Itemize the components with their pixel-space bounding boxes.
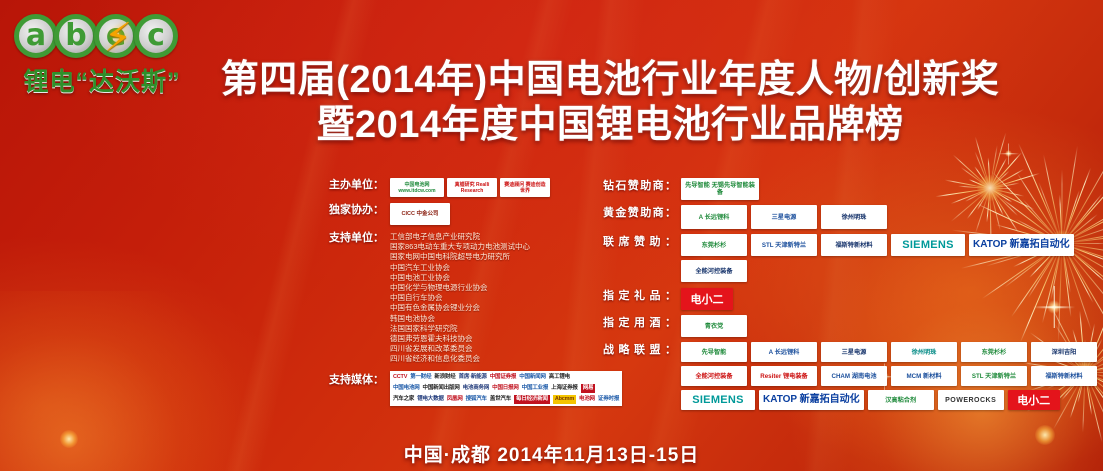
media-logo: 首席·新能源 <box>459 373 487 382</box>
support-organization-item: 四川省经济和信息化委员会 <box>390 354 530 364</box>
sponsor-logo-text: 中国电池网 www.itdcw.com <box>393 182 441 194</box>
event-location-date: 中国·成都 2014年11月13日-15日 <box>0 440 1103 467</box>
media-logo: Abcmm <box>553 395 576 404</box>
media-logo: 中国电池网 <box>393 384 420 393</box>
media-logo: 上海证券报 <box>551 384 578 393</box>
support-organization-item: 工信部电子信息产业研究院 <box>390 232 530 242</box>
joint-sponsor-row: 联席赞助： 东莞杉杉STL 天津新特兰福斯特新材料SIEMENSKATOP 新嘉… <box>603 234 1103 282</box>
media-logo: 锂电大数据 <box>417 395 444 404</box>
exclusive-logos: CICC 中金公司 <box>390 203 450 225</box>
left-sponsor-column: 主办单位： 中国电池网 www.itdcw.com真锂研究 Realli Res… <box>318 178 588 406</box>
sponsor-logo-chip: 徐州明珠 <box>821 205 887 229</box>
sponsor-logo-chip: Resiter 锂电装备 <box>751 366 817 386</box>
support-organizations-list: 工信部电子信息产业研究院国家863电动车重大专项动力电池测试中心国家电网中国电科… <box>390 231 530 365</box>
joint-sponsor-label: 联席赞助： <box>603 234 681 250</box>
page-title: 第四届(2014年)中国电池行业年度人物/创新奖 暨2014年度中国锂电池行业品… <box>195 58 1025 148</box>
sponsor-logo-chip: 青衣党 <box>681 315 747 337</box>
gift-label: 指定礼品： <box>603 288 681 304</box>
support-organization-item: 四川省发展和改革委员会 <box>390 344 530 354</box>
event-banner: a b e c ⚡ 锂电“达沃斯” 第四届(2014年)中国电池行业年度人物/创… <box>0 0 1103 471</box>
media-logo-line: 汽车之家锂电大数据凤凰网搜狐汽车盖世汽车每日经济新闻Abcmm电池网证券时报 <box>393 395 619 404</box>
support-organization-item: 中国有色金属协会锂业分会 <box>390 303 530 313</box>
support-organization-item: 德国弗劳恩霍夫科技协会 <box>390 334 530 344</box>
media-logo: 凤凰网 <box>447 395 463 404</box>
sponsor-logo-chip: 东莞杉杉 <box>961 342 1027 362</box>
sponsor-logo-text: 真锂研究 Realli Research <box>450 182 494 194</box>
sponsor-logo-chip: SIEMENS <box>681 390 755 410</box>
sponsor-logo-chip: CICC 中金公司 <box>390 203 450 225</box>
sparkle-icon <box>1005 150 1012 157</box>
sponsor-logo-text: POWEROCKS <box>945 397 996 404</box>
sponsor-logo-text: SIEMENS <box>902 239 954 251</box>
sponsor-logo-chip: 三星电源 <box>821 342 887 362</box>
sponsor-logo-chip: MCM 新材料 <box>891 366 957 386</box>
sponsor-logo-text: 全能河控装备 <box>695 268 732 275</box>
media-row: 支持媒体： CCTV第一财经新浪财经首席·新能源中国证券报中国新闻网高工锂电中国… <box>318 371 588 406</box>
sponsor-logo-text: 电小二 <box>1017 392 1050 408</box>
sponsor-logo-chip: A 长远锂科 <box>751 342 817 362</box>
support-row: 支持单位： 工信部电子信息产业研究院国家863电动车重大专项动力电池测试中心国家… <box>318 231 588 365</box>
support-label: 支持单位： <box>318 231 390 245</box>
media-logo: 中国新闻网 <box>519 373 546 382</box>
sponsor-logo-text: 深圳吉阳 <box>1052 349 1077 356</box>
media-logo: 中国工业报 <box>522 384 549 393</box>
sponsor-logo-text: 汉高粘合剂 <box>885 397 916 404</box>
alliance-row: 战略联盟： 先导智能A 长远锂科三星电源徐州明珠东莞杉杉深圳吉阳全能河控装备Re… <box>603 342 1103 410</box>
logo-letter-c: c <box>139 19 173 53</box>
logo-ring-a: a <box>14 14 58 58</box>
sponsor-logo-text: KATOP 新嘉拓自动化 <box>973 240 1070 250</box>
sponsor-logo-text: 福斯特新材料 <box>1045 373 1082 380</box>
diamond-sponsor-label: 钻石赞助商： <box>603 178 681 194</box>
sponsor-logo-chip: 福斯特新材料 <box>821 234 887 256</box>
sponsor-logo-text: STL 天津新特兰 <box>762 242 806 249</box>
sponsor-logo-text: SIEMENS <box>692 394 744 406</box>
sponsor-logo-text: 东莞杉杉 <box>702 242 727 249</box>
sponsor-logo-chip: A 长远锂科 <box>681 205 747 229</box>
sponsor-logo-chip: 电小二 <box>1008 390 1060 410</box>
gold-sponsor-row: 黄金赞助商： A 长远锂科三星电源徐州明珠 <box>603 205 1103 229</box>
sponsor-logo-text: A 长远锂科 <box>699 214 730 221</box>
media-logo-line: 中国电池网中国新闻出版网电池商务网中国日报网中国工业报上海证券报网易 <box>393 384 619 393</box>
logo-letter-b: b <box>59 19 93 53</box>
title-line-1: 第四届(2014年)中国电池行业年度人物/创新奖 <box>195 58 1025 102</box>
sponsor-logo-text: A 长远锂科 <box>769 349 800 356</box>
sponsor-logo-chip: 深圳吉阳 <box>1031 342 1097 362</box>
logo-letter-a: a <box>19 19 53 53</box>
sponsor-logo-text: 三星电源 <box>772 214 797 221</box>
sponsor-logo-chip: 先导智能 <box>681 342 747 362</box>
sponsor-logo-chip: STL 天津新特兰 <box>961 366 1027 386</box>
exclusive-row: 独家协办： CICC 中金公司 <box>318 203 588 225</box>
media-logo: 电池网 <box>579 395 595 404</box>
alliance-label: 战略联盟： <box>603 342 681 358</box>
gold-sponsor-label: 黄金赞助商： <box>603 205 681 221</box>
logo-chinese-text: 锂电“达沃斯” <box>16 62 188 98</box>
media-logo: 盖世汽车 <box>490 395 511 404</box>
sponsor-logo-text: 三星电源 <box>842 349 867 356</box>
organizer-logos: 中国电池网 www.itdcw.com真锂研究 Realli Research赛… <box>390 178 550 197</box>
sponsor-logo-text: KATOP 新嘉拓自动化 <box>763 395 860 405</box>
media-label: 支持媒体： <box>318 371 390 387</box>
sponsor-logo-text: CHAM 湖南电池 <box>831 373 876 380</box>
sponsor-logo-text: 徐州明珠 <box>842 214 867 221</box>
sponsor-logo-chip: CHAM 湖南电池 <box>821 366 887 386</box>
logo-ring-b: b <box>54 14 98 58</box>
exclusive-label: 独家协办： <box>318 203 390 217</box>
support-organization-item: 国家863电动车重大专项动力电池测试中心 <box>390 242 530 252</box>
sponsor-logo-text: 电小二 <box>691 291 724 307</box>
gold-sponsor-logos: A 长远锂科三星电源徐州明珠 <box>681 205 1099 229</box>
sponsor-logo-chip: 全能河控装备 <box>681 366 747 386</box>
media-logos-block: CCTV第一财经新浪财经首席·新能源中国证券报中国新闻网高工锂电中国电池网中国新… <box>390 371 622 406</box>
media-logo: 每日经济新闻 <box>514 395 550 404</box>
alliance-logos: 先导智能A 长远锂科三星电源徐州明珠东莞杉杉深圳吉阳全能河控装备Resiter … <box>681 342 1099 410</box>
media-logo: CCTV <box>393 373 407 382</box>
sponsor-logo-text: 徐州明珠 <box>912 349 937 356</box>
sponsor-logo-text: 先导智能 无锡先导智能装备 <box>685 182 755 196</box>
support-organization-item: 韩国电池协会 <box>390 314 530 324</box>
sponsor-logo-text: 青衣党 <box>705 323 724 330</box>
sponsor-logo-chip: 东莞杉杉 <box>681 234 747 256</box>
support-organization-item: 法国国家科学研究院 <box>390 324 530 334</box>
sponsor-logo-chip: 徐州明珠 <box>891 342 957 362</box>
abec-logo: a b e c ⚡ 锂电“达沃斯” <box>12 8 188 104</box>
drink-row: 指定用酒： 青衣党 <box>603 315 1103 337</box>
organizer-label: 主办单位： <box>318 178 390 192</box>
logo-ring-c: c <box>134 14 178 58</box>
right-sponsor-column: 钻石赞助商： 先导智能 无锡先导智能装备 黄金赞助商： A 长远锂科三星电源徐州… <box>603 178 1103 415</box>
support-organization-item: 国家电网中国电科院超导电力研究所 <box>390 252 530 262</box>
media-logo: 搜狐汽车 <box>466 395 487 404</box>
sponsor-logo-text: CICC 中金公司 <box>402 211 439 218</box>
media-logo-line: CCTV第一财经新浪财经首席·新能源中国证券报中国新闻网高工锂电 <box>393 373 619 382</box>
sponsor-logo-text: 福斯特新材料 <box>835 242 872 249</box>
organizer-row: 主办单位： 中国电池网 www.itdcw.com真锂研究 Realli Res… <box>318 178 588 197</box>
sponsor-logo-chip: KATOP 新嘉拓自动化 <box>969 234 1074 256</box>
sponsor-logo-chip: KATOP 新嘉拓自动化 <box>759 390 864 410</box>
media-logo: 中国证券报 <box>490 373 517 382</box>
sponsor-logo-text: 东莞杉杉 <box>982 349 1007 356</box>
sponsor-logo-text: 全能河控装备 <box>695 373 732 380</box>
drink-logos: 青衣党 <box>681 315 1099 337</box>
drink-label: 指定用酒： <box>603 315 681 331</box>
joint-sponsor-logos: 东莞杉杉STL 天津新特兰福斯特新材料SIEMENSKATOP 新嘉拓自动化全能… <box>681 234 1099 282</box>
media-logo: 中国新闻出版网 <box>423 384 460 393</box>
media-logo: 汽车之家 <box>393 395 414 404</box>
sponsor-logo-chip: 中国电池网 www.itdcw.com <box>390 178 444 197</box>
sponsor-logo-chip: 汉高粘合剂 <box>868 390 934 410</box>
media-logo: 高工锂电 <box>549 373 570 382</box>
sponsor-logo-chip: 全能河控装备 <box>681 260 747 282</box>
sponsor-logo-chip: 赛迪顾问 赛迪创造世界 <box>500 178 550 197</box>
diamond-sponsor-row: 钻石赞助商： 先导智能 无锡先导智能装备 <box>603 178 1103 200</box>
support-organization-item: 中国化学与物理电源行业协会 <box>390 283 530 293</box>
media-logo: 网易 <box>581 384 596 393</box>
sponsor-logo-chip: 先导智能 无锡先导智能装备 <box>681 178 759 200</box>
sponsor-logo-text: 赛迪顾问 赛迪创造世界 <box>503 182 547 194</box>
sponsor-logo-text: Resiter 锂电装备 <box>760 373 807 380</box>
diamond-sponsor-logos: 先导智能 无锡先导智能装备 <box>681 178 1099 200</box>
sponsor-logo-text: MCM 新材料 <box>906 373 941 380</box>
sponsor-logo-chip: 真锂研究 Realli Research <box>447 178 497 197</box>
media-logo: 中国日报网 <box>492 384 519 393</box>
support-organization-item: 中国电池工业协会 <box>390 273 530 283</box>
gift-logos: 电小二 <box>681 288 1099 310</box>
media-logo: 电池商务网 <box>463 384 490 393</box>
support-organization-item: 中国汽车工业协会 <box>390 263 530 273</box>
support-organization-item: 中国自行车协会 <box>390 293 530 303</box>
sponsor-logo-chip: SIEMENS <box>891 234 965 256</box>
sponsor-logo-chip: 三星电源 <box>751 205 817 229</box>
sponsor-logo-text: 先导智能 <box>702 349 727 356</box>
sponsor-logo-text: STL 天津新特兰 <box>972 373 1016 380</box>
sponsor-logo-chip: STL 天津新特兰 <box>751 234 817 256</box>
sponsor-logo-chip: 电小二 <box>681 288 733 310</box>
lightning-bolt-icon: ⚡ <box>98 12 138 64</box>
media-logo: 新浪财经 <box>434 373 455 382</box>
gift-row: 指定礼品： 电小二 <box>603 288 1103 310</box>
title-line-2: 暨2014年度中国锂电池行业品牌榜 <box>195 102 1025 148</box>
sponsor-logo-chip: 福斯特新材料 <box>1031 366 1097 386</box>
media-logo: 第一财经 <box>410 373 431 382</box>
sponsor-logo-chip: POWEROCKS <box>938 390 1004 410</box>
